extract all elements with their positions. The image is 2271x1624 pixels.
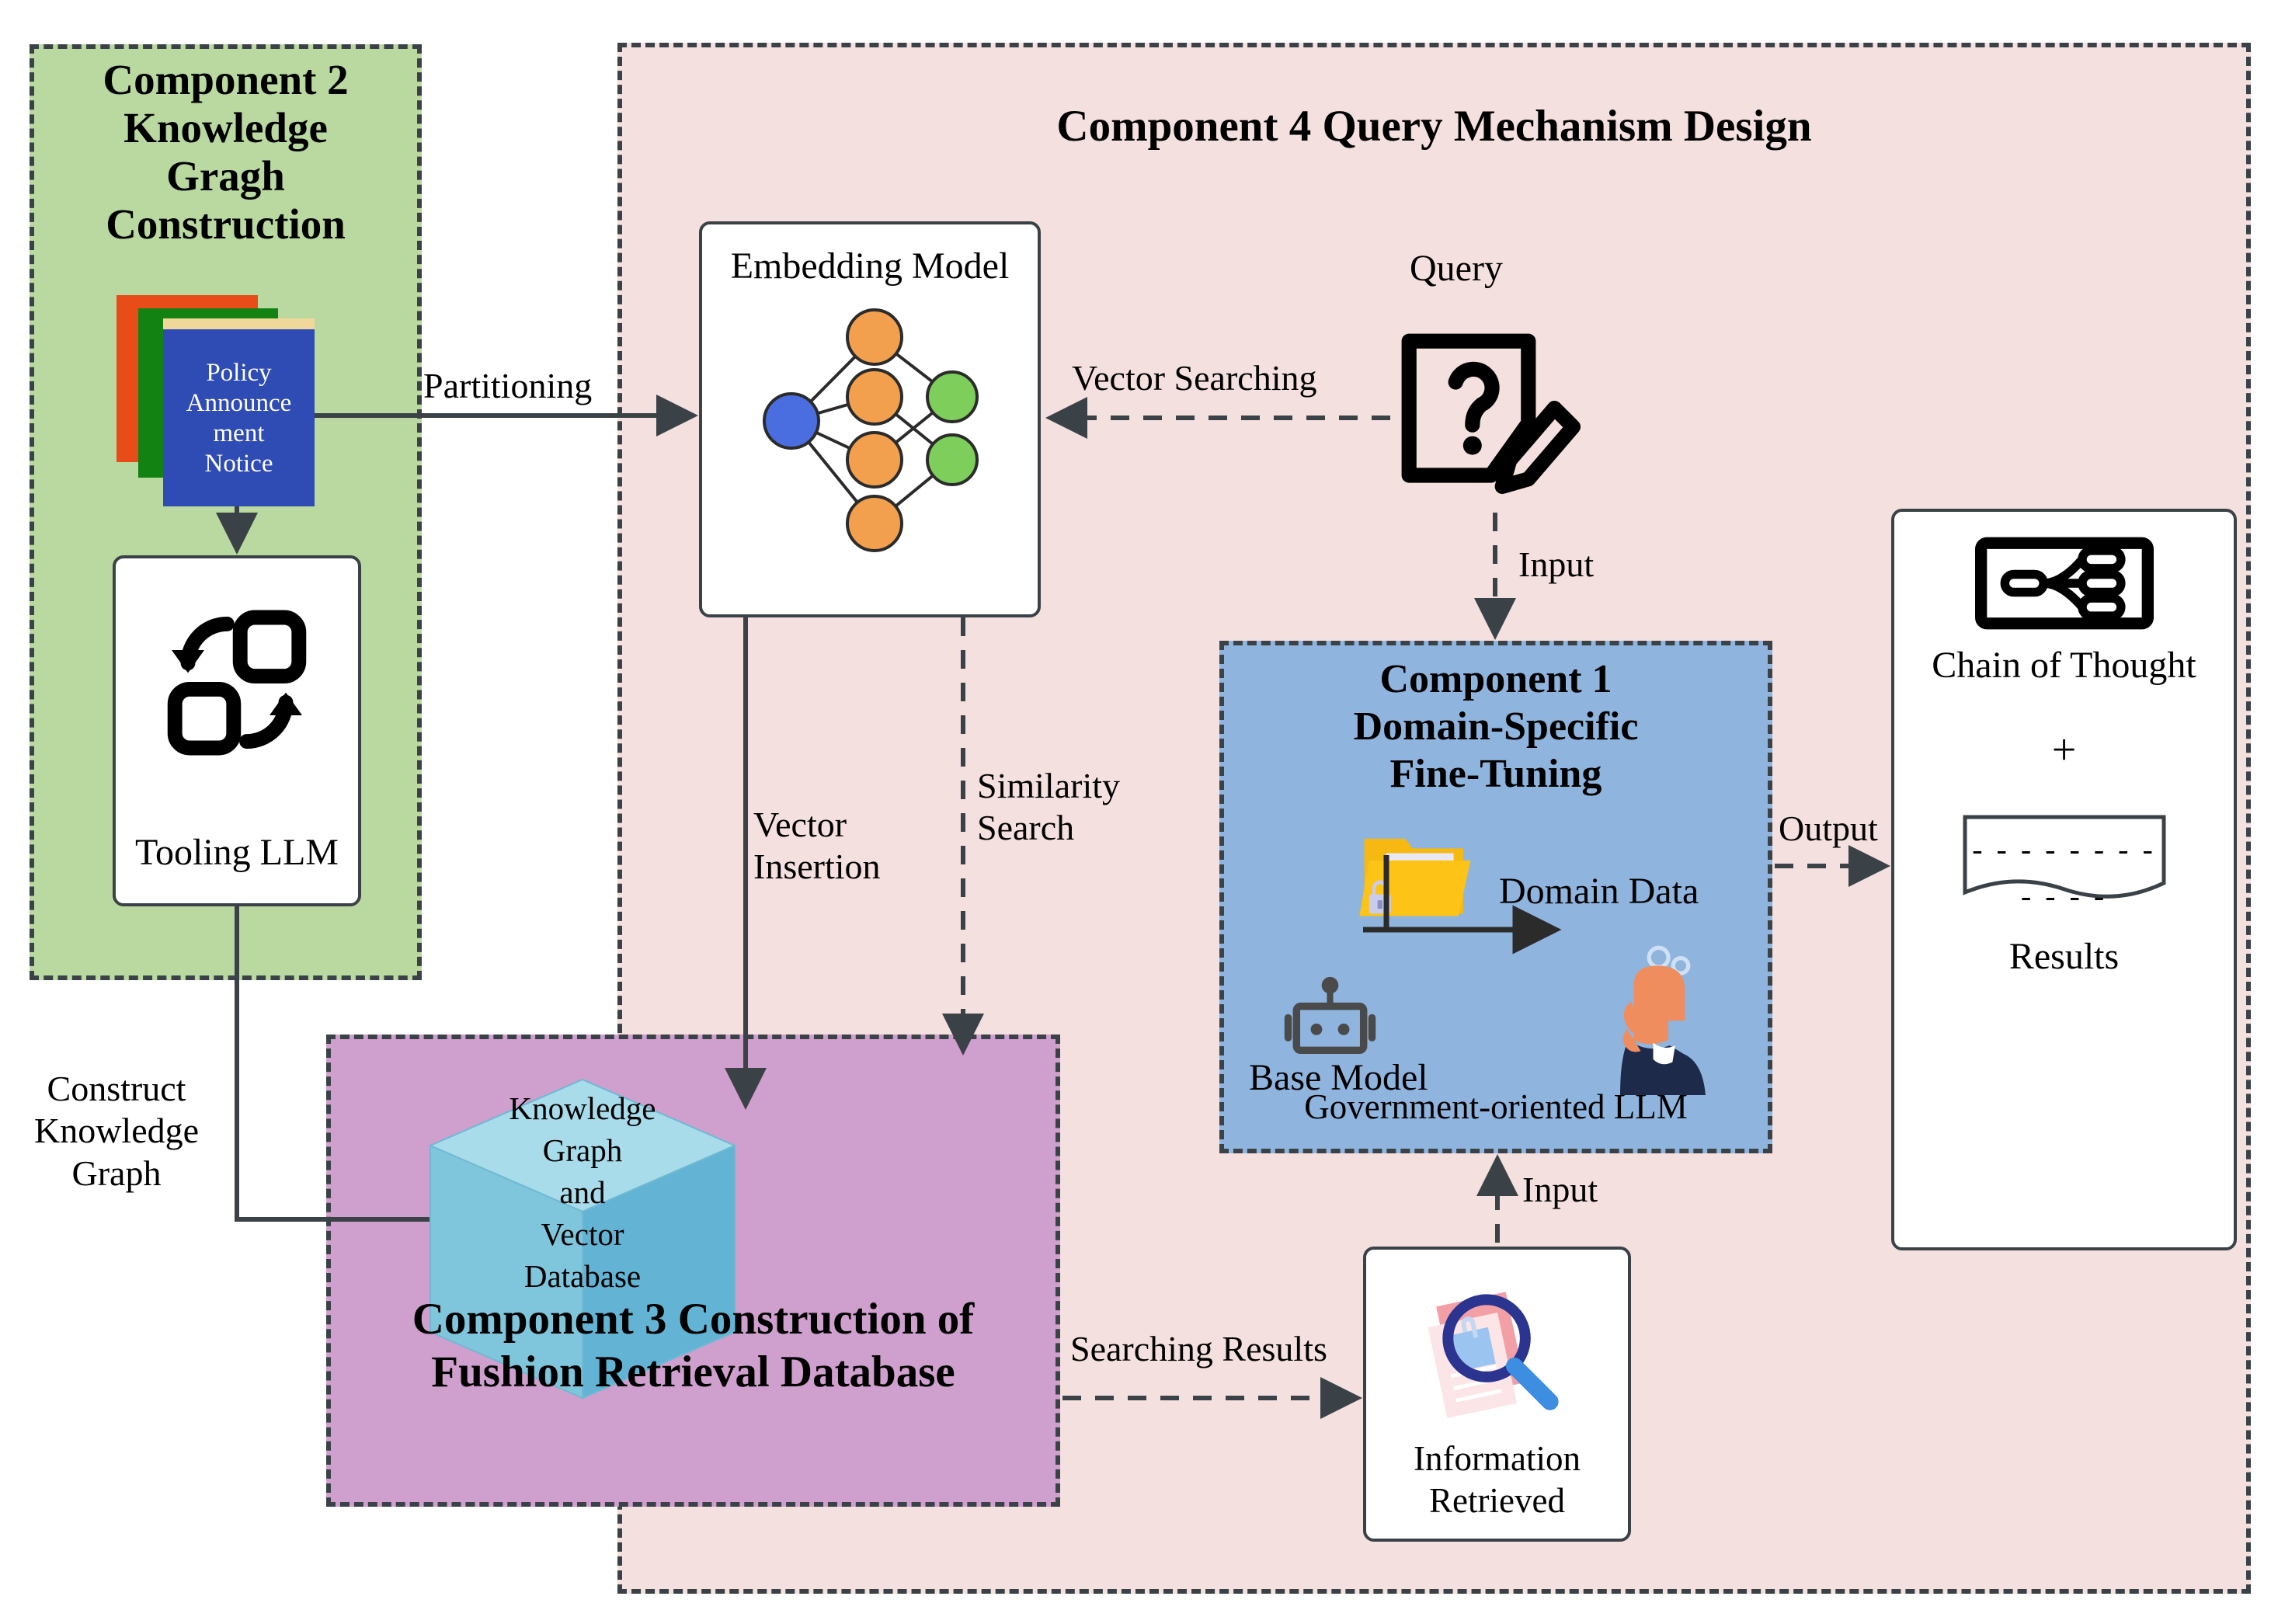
- policy-document-label: Policy Announce ment Notice: [163, 332, 315, 505]
- similarity-search-line-2: Search: [977, 807, 1120, 849]
- component-3-title-line-2: Fushion Retrieval Database: [326, 1346, 1060, 1399]
- chain-of-thought-label: Chain of Thought: [1894, 644, 2234, 687]
- query-label: Query: [1410, 247, 1503, 290]
- query-icon: [1394, 326, 1581, 513]
- component-3-title-line-1: Component 3 Construction of: [326, 1293, 1060, 1346]
- cube-line-2: Graph: [419, 1129, 746, 1171]
- component-2-title-line-4: Construction: [30, 200, 422, 249]
- results-line-1: - - - - - - - -: [1894, 826, 2234, 873]
- tooling-refresh-icon: [155, 601, 318, 764]
- results-line-2: - - - -: [1894, 873, 2234, 920]
- edge-label-partitioning: Partitioning: [423, 365, 592, 407]
- info-retrieved-line-2: Retrieved: [1366, 1480, 1628, 1521]
- construct-kg-line-3: Graph: [23, 1153, 210, 1195]
- policy-doc-line-2: Announce: [186, 388, 292, 419]
- construct-kg-line-2: Knowledge: [23, 1110, 210, 1152]
- chain-of-thought-icon: [1975, 537, 2154, 630]
- cube-line-3: and: [419, 1171, 746, 1213]
- edge-label-input-query: Input: [1518, 544, 1594, 586]
- tooling-llm-box[interactable]: Tooling LLM: [113, 555, 361, 906]
- results-page-lines: - - - - - - - - - - - -: [1894, 826, 2234, 920]
- construct-kg-line-1: Construct: [23, 1068, 210, 1110]
- tooling-llm-label: Tooling LLM: [116, 831, 358, 874]
- edge-label-vector-insertion: Vector Insertion: [753, 804, 881, 889]
- component-2-title: Component 2 Knowledge Gragh Construction: [30, 56, 422, 249]
- neural-network-graphic: [702, 224, 1044, 621]
- results-label: Results: [1894, 935, 2234, 978]
- information-retrieved-box[interactable]: Information Retrieved: [1363, 1247, 1631, 1542]
- chain-of-thought-box[interactable]: Chain of Thought + - - - - - - - - - - -…: [1891, 509, 2237, 1250]
- cube-line-1: Knowledge: [419, 1087, 746, 1129]
- info-retrieved-line-1: Information: [1366, 1438, 1628, 1480]
- government-llm-person-icon: [1581, 944, 1720, 1095]
- government-oriented-llm-label: Government-oriented LLM: [1219, 1087, 1772, 1127]
- plus-sign: +: [1894, 725, 2234, 775]
- policy-doc-line-4: Notice: [205, 449, 273, 479]
- component-3-title: Component 3 Construction of Fushion Retr…: [326, 1293, 1060, 1400]
- embedding-model-box[interactable]: Embedding Model: [699, 221, 1041, 617]
- magnifier-documents-icon: [1414, 1279, 1581, 1434]
- cube-label: Knowledge Graph and Vector Database: [419, 1087, 746, 1298]
- policy-doc-line-1: Policy: [206, 358, 271, 388]
- similarity-search-line-1: Similarity: [977, 765, 1120, 807]
- policy-doc-line-3: ment: [214, 419, 265, 449]
- vector-insertion-line-1: Vector: [753, 804, 881, 846]
- edge-label-input-retrieved: Input: [1522, 1169, 1598, 1211]
- edge-label-vector-searching: Vector Searching: [1072, 357, 1317, 399]
- component-2-title-line-2: Knowledge: [30, 104, 422, 152]
- component-4-title: Component 4 Query Mechanism Design: [617, 101, 2251, 151]
- cube-line-4: Vector: [419, 1213, 746, 1255]
- component-2-title-line-1: Component 2: [30, 56, 422, 104]
- cube-line-5: Database: [419, 1255, 746, 1297]
- edge-label-output: Output: [1779, 808, 1878, 850]
- information-retrieved-label: Information Retrieved: [1366, 1438, 1628, 1521]
- edge-label-construct-knowledge-graph: Construct Knowledge Graph: [23, 1068, 210, 1195]
- component-2-title-line-3: Gragh: [30, 152, 422, 200]
- edge-label-searching-results: Searching Results: [1070, 1328, 1327, 1370]
- edge-label-similarity-search: Similarity Search: [977, 765, 1120, 850]
- vector-insertion-line-2: Insertion: [753, 846, 881, 888]
